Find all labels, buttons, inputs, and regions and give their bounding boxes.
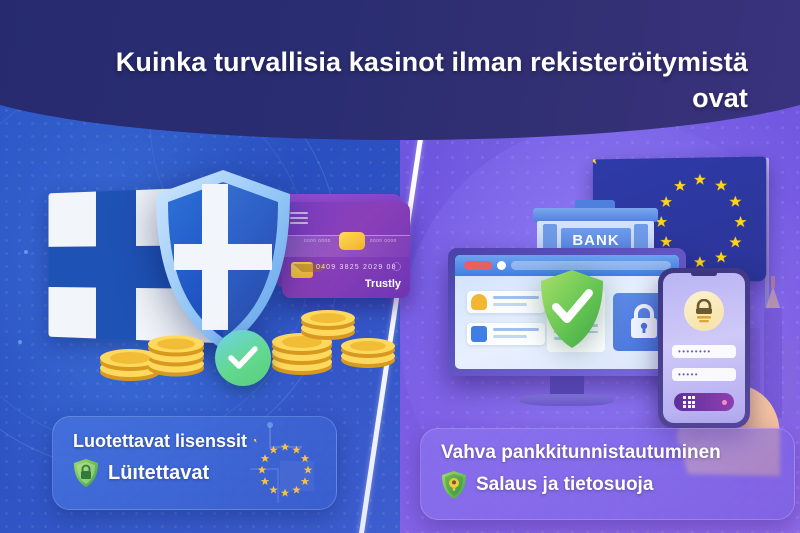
badge-left-line-1: Luotettavat lisenssit: [73, 430, 316, 452]
mobile-phone[interactable]: •••••••• •••••: [658, 268, 750, 428]
left-illustration: 0000 0000 0000 0000 0409 3825 2029 08 Tr…: [0, 150, 420, 450]
page-title: Kuinka turvallisia kasinot ilman rekiste…: [48, 44, 748, 116]
badge-left-line-2-wrap: Lüıtettavat: [73, 458, 316, 488]
right-illustration: BANK: [440, 150, 800, 440]
phone-password-field-1[interactable]: ••••••••: [672, 345, 736, 358]
row-line-2: [493, 303, 527, 306]
green-shield-check-icon: [539, 269, 605, 349]
user-account-row[interactable]: [467, 323, 545, 345]
badge-right-line-2: Salaus ja tietosuoja: [476, 473, 653, 497]
card-chip-icon: [339, 232, 365, 250]
card-envelope-icon: [291, 262, 313, 278]
title-line-2: ovat: [48, 80, 748, 116]
badge-left-line-2: Lüıtettavat: [108, 461, 209, 485]
card-contactless-icon: [392, 262, 401, 271]
phone-keypad-button[interactable]: [674, 393, 734, 411]
gold-coin-stack-right: [268, 300, 398, 380]
monitor-base: [520, 394, 614, 406]
badge-strong-authentication[interactable]: Vahva pankkitunnistautuminen Salaus ja t…: [420, 428, 795, 520]
padlock-icon: [628, 304, 660, 340]
row-line-2: [493, 335, 527, 338]
shield-lock-icon: [73, 458, 99, 488]
desktop-monitor: [448, 248, 686, 408]
badge-right-line-1: Vahva pankkitunnistautuminen: [441, 442, 774, 464]
phone-screen: •••••••• •••••: [663, 273, 745, 423]
card-sub-left: 0000 0000: [304, 238, 331, 243]
badge-right-line-2-wrap: Salaus ja tietosuoja: [441, 470, 774, 500]
phone-password-field-2[interactable]: •••••: [672, 368, 736, 381]
monitor-frame: [448, 248, 686, 376]
keypad-indicator-dot: [722, 400, 727, 405]
gold-coin-stack-left: [98, 318, 214, 382]
card-sub-right: 0000 0000: [370, 238, 397, 243]
lock-glyph-icon: [693, 299, 715, 323]
badge-trusted-licenses[interactable]: Luotettavat lisenssit Lüıtettavat: [52, 416, 337, 510]
monitor-screen: [455, 255, 679, 369]
row-line-1: [493, 328, 539, 331]
check-icon: [228, 346, 258, 370]
card-number: 0409 3825 2029 08: [316, 264, 397, 271]
trustly-credit-card: 0000 0000 0000 0000 0409 3825 2029 08 Tr…: [282, 202, 410, 298]
phone-notch: [691, 271, 717, 276]
green-check-circle: [215, 330, 271, 386]
infographic-canvas: 0000 0000 0000 0000 0409 3825 2029 08 Tr…: [0, 0, 800, 533]
user-icon: [471, 326, 487, 342]
shield-lock-gold-icon: [441, 470, 467, 500]
row-line-1: [493, 296, 539, 299]
notification-row[interactable]: [467, 291, 545, 313]
browser-white-dot[interactable]: [497, 261, 506, 270]
lock-avatar-icon: [684, 291, 724, 331]
bank-roof: [533, 208, 658, 222]
card-brand: Trustly: [365, 278, 401, 290]
keypad-grid-icon: [683, 396, 695, 408]
bell-icon: [471, 294, 487, 310]
title-line-1: Kuinka turvallisia kasinot ilman rekiste…: [48, 44, 748, 80]
browser-red-pill[interactable]: [464, 261, 492, 270]
